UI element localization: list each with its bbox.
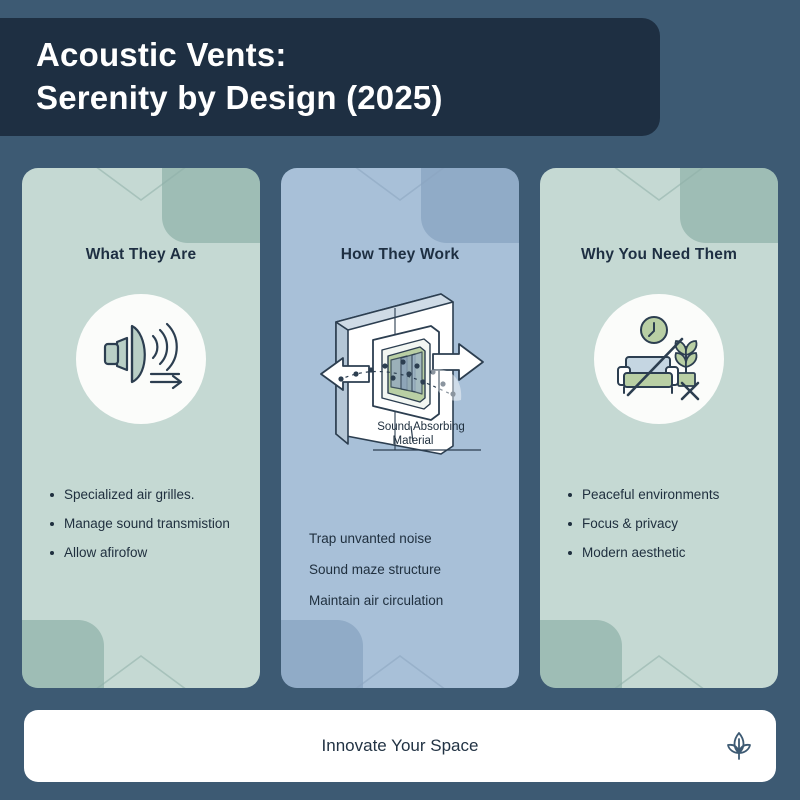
card-what-they-are[interactable]: What They Are Specialized air grilles. M — [22, 168, 260, 688]
chevron-down-decor-icon — [611, 168, 707, 204]
sofa-plant-quiet-icon — [610, 313, 708, 405]
page-title: Acoustic Vents: Serenity by Design (2025… — [36, 34, 443, 120]
speaker-soundwave-airflow-icon — [93, 316, 189, 402]
card-icon-container: Sound Absorbing Material — [281, 274, 519, 464]
decor-corner-bottom-left — [22, 620, 104, 688]
decor-corner-bottom-left — [540, 620, 622, 688]
card-why-you-need-them[interactable]: Why You Need Them — [540, 168, 778, 688]
card-title: How They Work — [341, 246, 460, 264]
diagram-label-line2: Material — [393, 435, 434, 447]
list-item: Manage sound transmistion — [50, 515, 260, 533]
card-how-they-work[interactable]: How They Work — [281, 168, 519, 688]
chevron-up-decor-icon — [611, 652, 707, 688]
chevron-up-decor-icon — [93, 652, 189, 688]
card-icon-container — [594, 294, 724, 424]
list-item: Allow afirofow — [50, 544, 260, 562]
list-item: Trap unvanted noise — [309, 530, 519, 548]
card-icon-container — [76, 294, 206, 424]
card-bullet-list: Peaceful environments Focus & privacy Mo… — [540, 486, 778, 572]
card-title: What They Are — [86, 246, 197, 264]
decor-corner-bottom-left — [281, 620, 363, 688]
card-title: Why You Need Them — [581, 246, 737, 264]
list-item: Modern aesthetic — [568, 544, 778, 562]
list-item: Specialized air grilles. — [50, 486, 260, 504]
cards-row: What They Are Specialized air grilles. M — [22, 168, 778, 688]
diagram-label-line1: Sound Absorbing — [377, 421, 465, 433]
card-bullet-list: Trap unvanted noise Sound maze structure… — [281, 530, 519, 622]
chevron-down-decor-icon — [352, 168, 448, 204]
footer-tagline: Innovate Your Space — [322, 736, 479, 756]
header-banner: Acoustic Vents: Serenity by Design (2025… — [0, 18, 660, 136]
isometric-vent-diagram: Sound Absorbing Material — [281, 274, 519, 464]
list-item: Peaceful environments — [568, 486, 778, 504]
card-bullet-list: Specialized air grilles. Manage sound tr… — [22, 486, 260, 572]
list-item: Focus & privacy — [568, 515, 778, 533]
list-item: Sound maze structure — [309, 561, 519, 579]
leaf-sprout-logo — [724, 729, 754, 763]
list-item: Maintain air circulation — [309, 592, 519, 610]
footer-bar[interactable]: Innovate Your Space — [24, 710, 776, 782]
chevron-down-decor-icon — [93, 168, 189, 204]
chevron-up-decor-icon — [352, 652, 448, 688]
